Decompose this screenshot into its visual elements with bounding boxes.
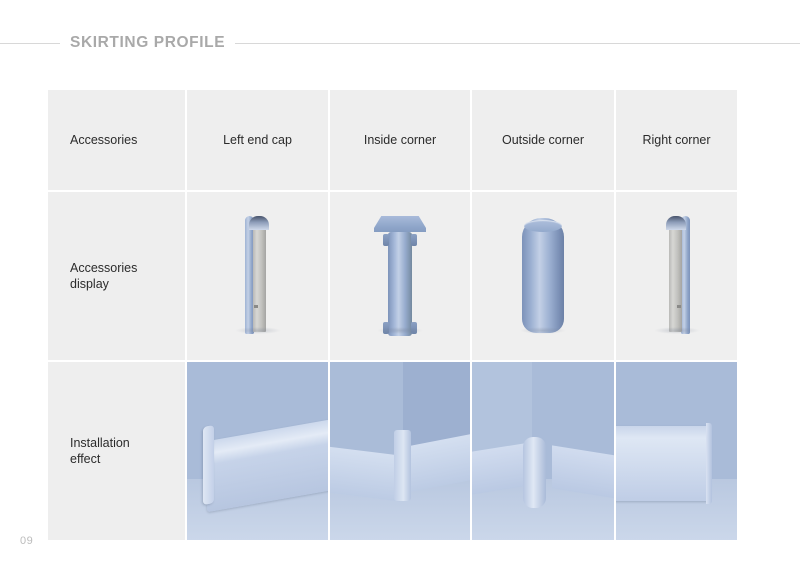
profile-metal-face xyxy=(253,220,266,332)
render-stage xyxy=(187,192,328,360)
outside-corner-icon xyxy=(522,218,564,333)
right-corner-icon xyxy=(664,216,690,334)
installation-scene xyxy=(472,362,614,540)
outside-corner-piece xyxy=(523,437,546,508)
profile-notch xyxy=(254,305,258,308)
render-shadow xyxy=(235,327,281,334)
header-label-accessories: Accessories xyxy=(70,133,137,147)
header-cell-right-corner: Right corner xyxy=(616,90,737,190)
render-shadow xyxy=(654,327,700,334)
cell-inside-corner-installation xyxy=(330,362,470,540)
skirting-right-cap xyxy=(706,423,712,505)
accessories-display-row: Accessories display xyxy=(48,192,737,360)
profile-blue-edge xyxy=(681,216,690,334)
cell-left-end-cap-render xyxy=(187,192,328,360)
row-label-installation-effect: Installation effect xyxy=(48,362,185,540)
accessories-table: Accessories Left end cap Inside corner O… xyxy=(48,90,737,540)
header-label-left-end-cap: Left end cap xyxy=(223,133,292,147)
render-shadow xyxy=(520,327,566,334)
installation-scene xyxy=(330,362,470,540)
header-label-outside-corner: Outside corner xyxy=(502,133,584,147)
cell-left-end-cap-installation xyxy=(187,362,328,540)
title-rule-right xyxy=(235,43,800,44)
cell-right-corner-installation xyxy=(616,362,737,540)
header-label-inside-corner: Inside corner xyxy=(364,133,436,147)
skirting-board-left xyxy=(330,447,400,502)
installation-scene xyxy=(187,362,328,540)
inside-corner-icon xyxy=(374,216,426,336)
profile-cap-top xyxy=(249,216,269,230)
cell-outside-corner-render xyxy=(472,192,614,360)
left-end-cap-icon xyxy=(245,216,271,334)
row-label-accessories-display: Accessories display xyxy=(48,192,185,360)
page-header: SKIRTING PROFILE xyxy=(0,32,800,54)
render-stage xyxy=(616,192,737,360)
page-number: 09 xyxy=(20,535,33,547)
header-cell-left-end-cap: Left end cap xyxy=(187,90,328,190)
column-shaft xyxy=(388,232,412,336)
profile-cap-top xyxy=(666,216,686,230)
header-cell-outside-corner: Outside corner xyxy=(472,90,614,190)
row-label-text-installation-effect: Installation effect xyxy=(70,435,130,467)
render-shadow xyxy=(377,327,423,334)
cell-outside-corner-installation xyxy=(472,362,614,540)
profile-notch xyxy=(677,305,681,308)
cell-inside-corner-render xyxy=(330,192,470,360)
profile-metal-face xyxy=(669,220,682,332)
render-stage xyxy=(472,192,614,360)
installation-effect-row: Installation effect xyxy=(48,362,737,540)
installation-scene xyxy=(616,362,737,540)
skirting-board xyxy=(616,426,710,501)
row-label-text-accessories-display: Accessories display xyxy=(70,260,137,292)
render-stage xyxy=(330,192,470,360)
title-rule-left xyxy=(0,43,60,44)
inside-corner-piece xyxy=(394,430,411,501)
table-header-row: Accessories Left end cap Inside corner O… xyxy=(48,90,737,190)
column-tab-top-left xyxy=(383,234,389,246)
header-cell-accessories: Accessories xyxy=(48,90,185,190)
cell-right-corner-render xyxy=(616,192,737,360)
header-cell-inside-corner: Inside corner xyxy=(330,90,470,190)
page-title: SKIRTING PROFILE xyxy=(60,32,235,54)
column-tab-top-right xyxy=(411,234,417,246)
skirting-end-cap xyxy=(203,425,214,505)
header-label-right-corner: Right corner xyxy=(642,133,710,147)
